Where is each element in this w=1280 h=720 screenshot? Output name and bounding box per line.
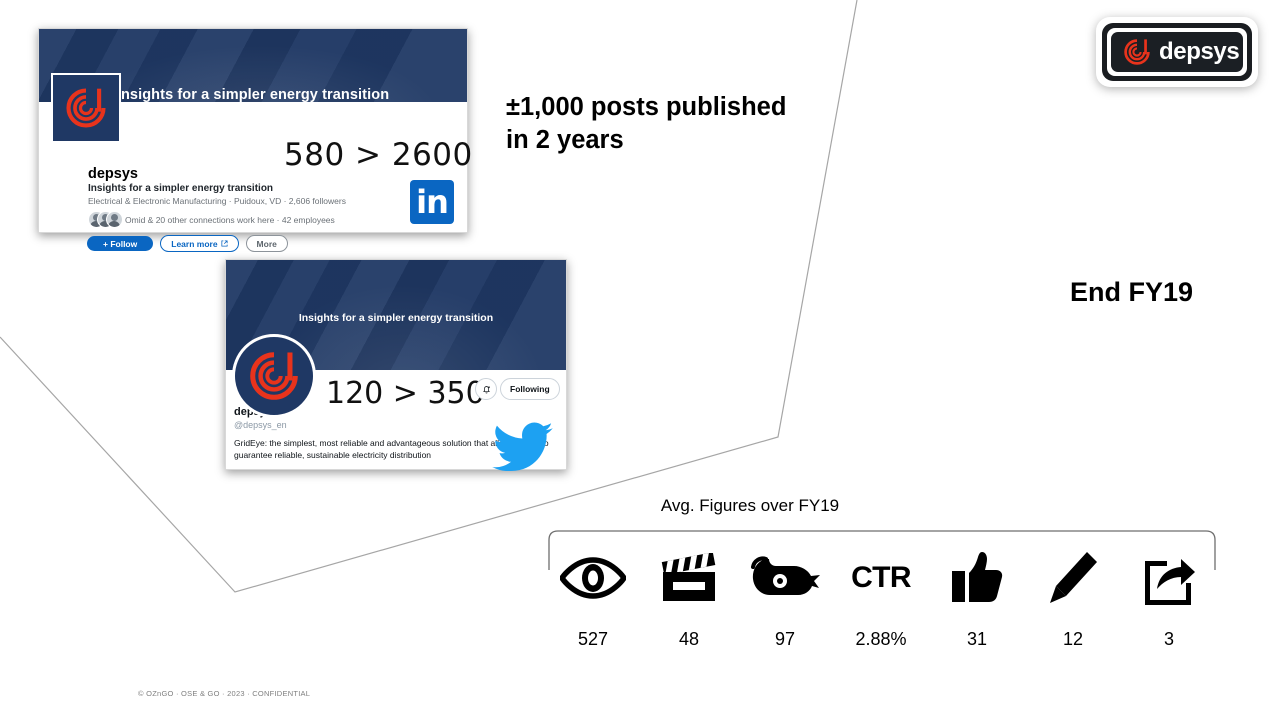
linkedin-connections-text: Omid & 20 other connections work here · … xyxy=(125,215,335,225)
ctr-label: CTR xyxy=(851,561,911,595)
logo-inner-plate: depsys xyxy=(1111,32,1243,72)
clapperboard-icon xyxy=(660,548,718,608)
avatar xyxy=(106,211,123,228)
headline-line-1: ±1,000 posts published xyxy=(506,91,836,124)
eye-icon xyxy=(560,548,626,608)
pencil-icon xyxy=(1047,548,1099,608)
linkedin-connection-avatars xyxy=(88,211,122,226)
linkedin-page-name: depsys xyxy=(88,166,138,182)
ctr-text-icon: CTR xyxy=(851,548,911,608)
brand-name: depsys xyxy=(1159,40,1239,64)
notification-bell-button[interactable] xyxy=(475,378,497,400)
metric-value: 31 xyxy=(967,629,987,650)
page-title: ±1,000 posts published in 2 years xyxy=(506,91,836,157)
metrics-row: 527 48 xyxy=(548,548,1214,663)
linkedin-follower-growth: 580 > 2600 xyxy=(284,137,473,173)
learn-more-button[interactable]: Learn more xyxy=(160,235,238,252)
linkedin-icon: in xyxy=(410,180,454,224)
metric-likes: 31 xyxy=(932,548,1022,650)
linkedin-profile-card[interactable]: Insights for a simpler energy transition… xyxy=(38,28,468,233)
learn-more-label: Learn more xyxy=(171,239,217,249)
twitter-bird-icon xyxy=(492,421,554,471)
metric-value: 48 xyxy=(679,629,699,650)
metric-value: 2.88% xyxy=(855,629,906,650)
depsys-logo: depsys xyxy=(1096,17,1258,87)
linkedin-tagline: Insights for a simpler energy transition xyxy=(88,183,273,194)
metric-value: 3 xyxy=(1164,629,1174,650)
depsys-spiral-icon xyxy=(63,85,109,131)
linkedin-action-buttons: + Follow Learn more More xyxy=(87,235,288,252)
bell-plus-icon xyxy=(481,384,492,395)
following-button[interactable]: Following xyxy=(500,378,560,400)
twitter-follower-growth: 120 > 350 xyxy=(326,376,485,411)
metrics-title-text: Avg. Figures over FY19 xyxy=(661,496,839,515)
twitter-profile-card[interactable]: Insights for a simpler energy transition… xyxy=(225,259,567,470)
twitter-avatar xyxy=(232,334,316,418)
metric-value: 12 xyxy=(1063,629,1083,650)
external-link-icon xyxy=(221,240,228,247)
metric-value: 97 xyxy=(775,629,795,650)
more-button[interactable]: More xyxy=(246,235,288,252)
headline-line-2: in 2 years xyxy=(506,124,836,157)
depsys-spiral-icon xyxy=(246,348,302,404)
metric-ctr: CTR 2.88% xyxy=(836,548,926,650)
footer-copyright: © OZnGO · OSE & GO · 2023 · CONFIDENTIAL xyxy=(138,689,310,698)
follow-button[interactable]: + Follow xyxy=(87,236,153,251)
thumbs-up-icon xyxy=(950,548,1004,608)
share-icon xyxy=(1141,548,1197,608)
twitter-handle: @depsys_en xyxy=(234,420,287,430)
metric-comments: 12 xyxy=(1028,548,1118,650)
metric-shares: 3 xyxy=(1124,548,1214,650)
linkedin-company-logo xyxy=(51,73,121,143)
depsys-spiral-icon xyxy=(1122,37,1152,67)
metrics-title: Avg. Figures over FY19 xyxy=(0,496,1280,516)
metric-clicks: 97 xyxy=(740,548,830,650)
period-label: End FY19 xyxy=(1070,277,1193,308)
linkedin-icon-glyph: in xyxy=(416,187,448,217)
metric-video-views: 48 xyxy=(644,548,734,650)
metric-value: 527 xyxy=(578,629,608,650)
linkedin-meta: Electrical & Electronic Manufacturing · … xyxy=(88,196,346,206)
click-mouse-icon xyxy=(750,548,820,608)
slide-canvas: Insights for a simpler energy transition… xyxy=(0,0,1280,720)
twitter-banner-title: Insights for a simpler energy transition xyxy=(226,312,566,324)
metric-impressions: 527 xyxy=(548,548,638,650)
